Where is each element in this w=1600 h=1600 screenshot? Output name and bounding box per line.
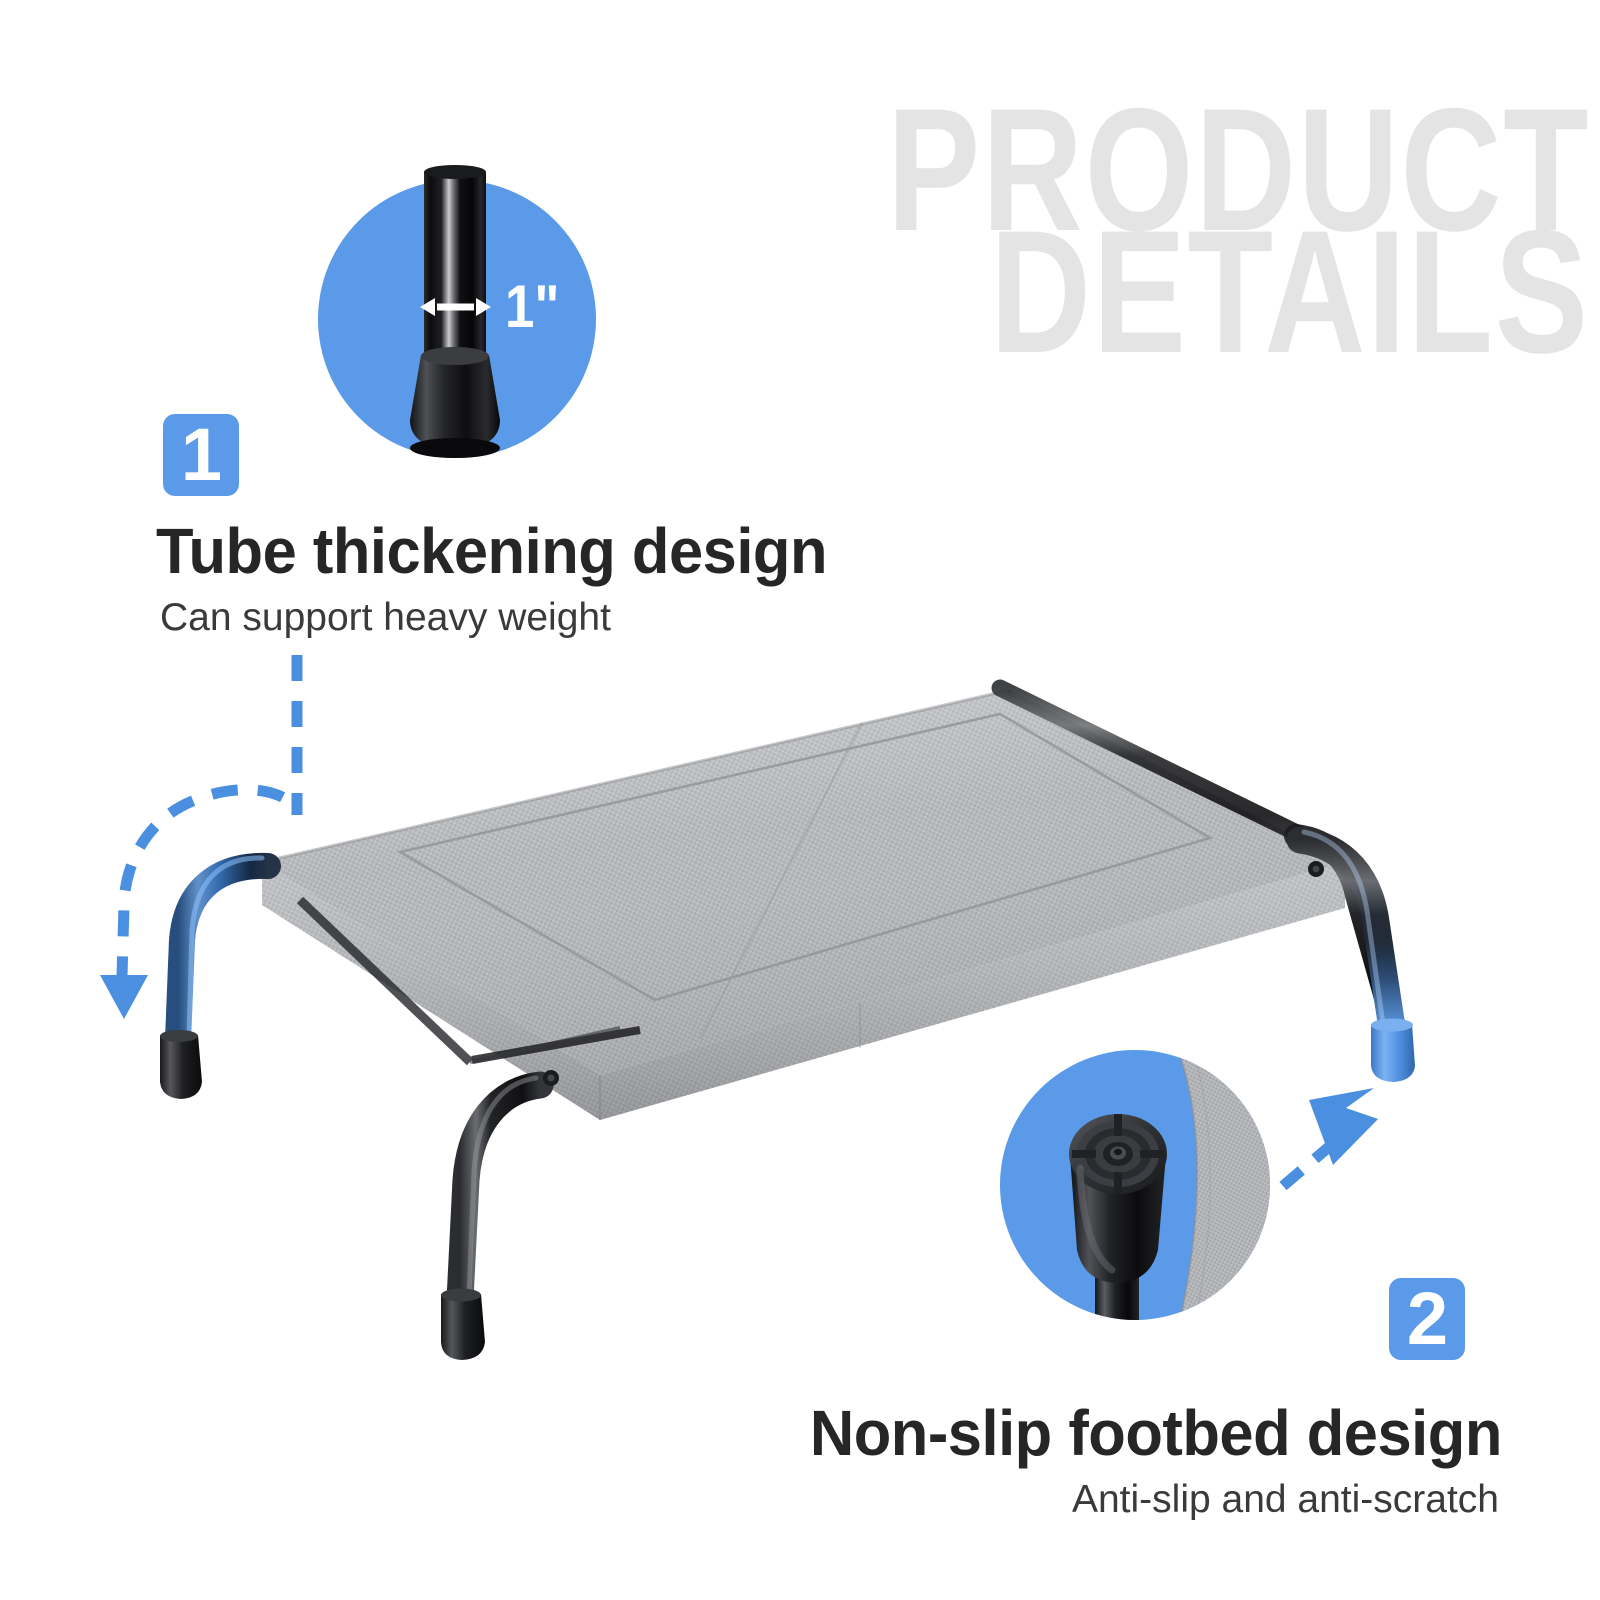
feature-2-title: Non-slip footbed design xyxy=(810,1396,1502,1470)
leg-rear-right-blue-foot xyxy=(1300,832,1415,1082)
tube-diameter-label: 1" xyxy=(505,272,559,341)
bed-fabric-top xyxy=(262,690,1345,1075)
bed-frame-top-rails xyxy=(240,680,1348,858)
feature-2-subtitle: Anti-slip and anti-scratch xyxy=(1072,1478,1499,1522)
foot-cap-highlighted xyxy=(1371,1024,1415,1082)
feature-2-inset-clip xyxy=(1000,1050,1270,1320)
dashed-arrow-feature-1 xyxy=(100,655,297,1019)
dashed-arrow-feature-2 xyxy=(1283,1088,1378,1186)
product-details-infographic: PRODUCT DETAILS xyxy=(0,0,1600,1600)
mesh-fabric-edge xyxy=(1178,1050,1270,1320)
leg-rear-right xyxy=(1296,836,1395,1030)
feature-1-title: Tube thickening design xyxy=(156,514,827,588)
leg-front-center xyxy=(441,1070,559,1360)
watermark-line-details: DETAILS xyxy=(990,218,1590,369)
feature-2-number-badge: 2 xyxy=(1389,1278,1465,1360)
feature-1-subtitle: Can support heavy weight xyxy=(160,596,611,640)
leg-front-left-highlighted xyxy=(160,858,268,1099)
bed-frame-cross-brace xyxy=(300,900,640,1062)
feature-1-number-badge: 1 xyxy=(163,414,239,496)
